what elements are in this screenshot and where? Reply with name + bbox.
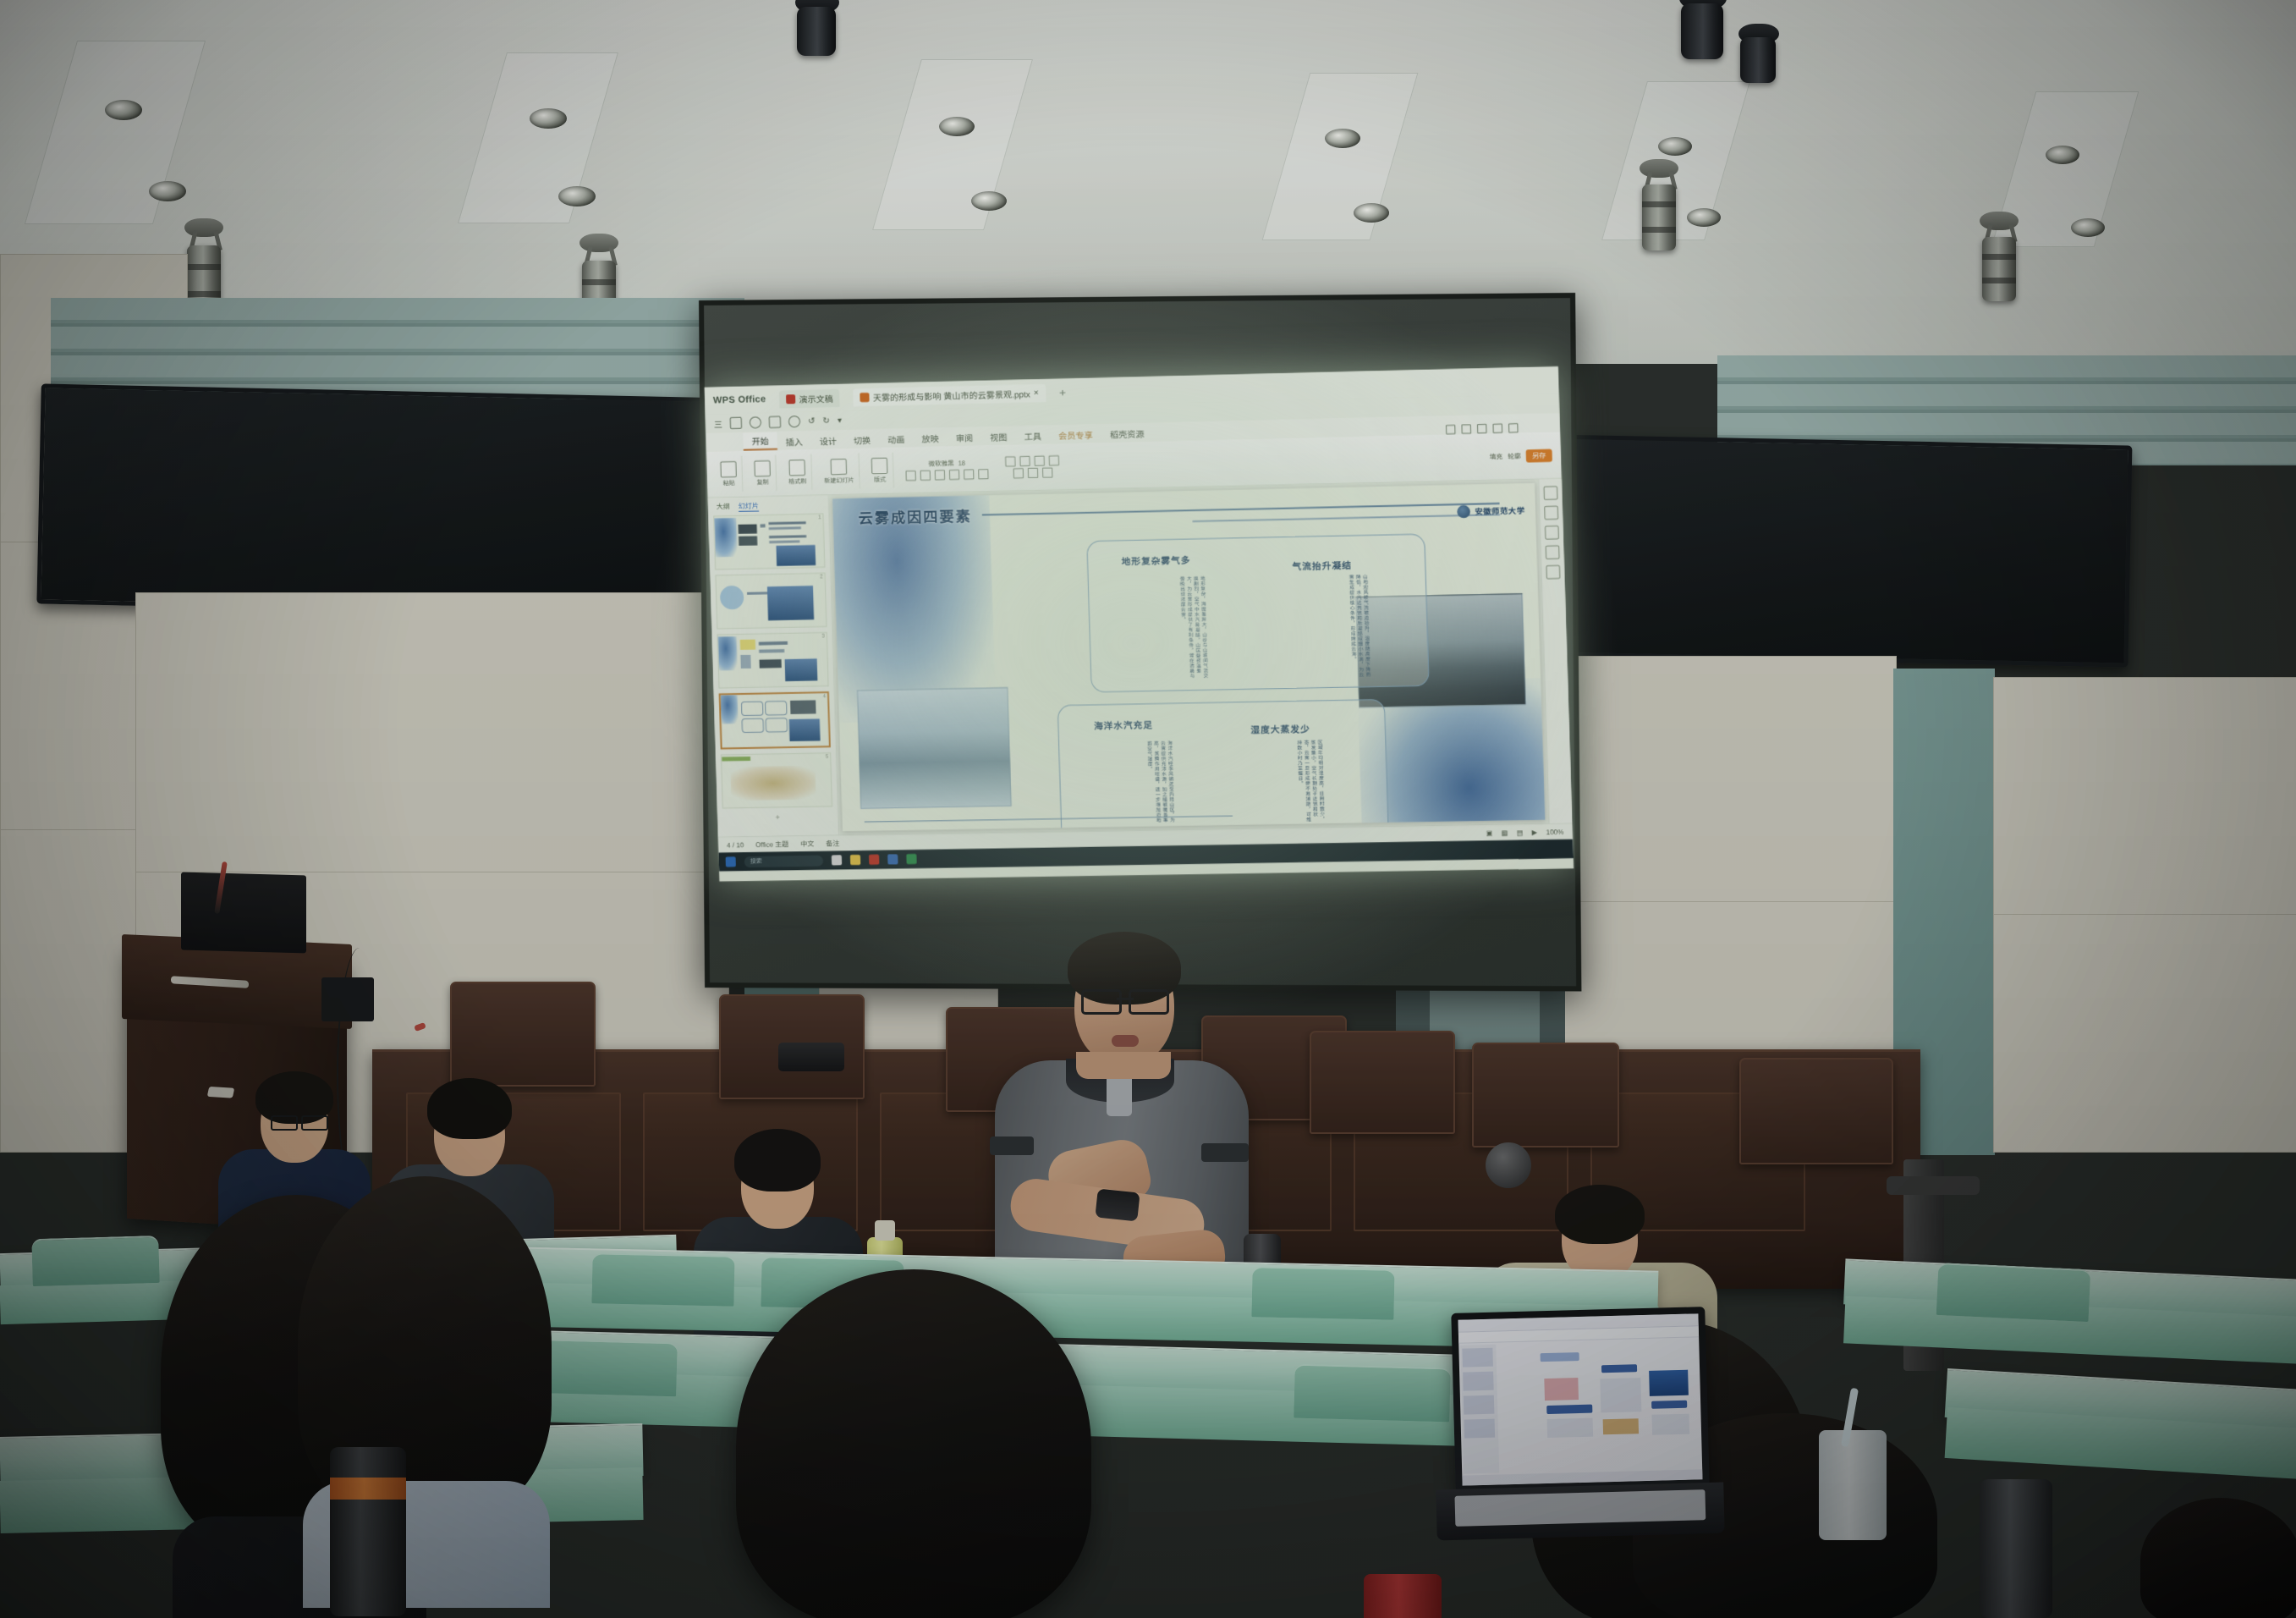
ceiling-downlight [2046, 146, 2079, 164]
explorer-icon[interactable] [832, 855, 842, 865]
foreground-audience-member [736, 1269, 1091, 1618]
ribbon-group-painter[interactable]: 格式刷 [783, 454, 812, 491]
thumb-index-2: 2 [820, 575, 823, 580]
ceiling-downlight [558, 186, 596, 206]
redo-icon[interactable] [788, 416, 800, 427]
bullet-list-icon[interactable] [1013, 468, 1024, 478]
foreground-hair [2140, 1498, 2296, 1618]
align-left-icon[interactable] [1005, 456, 1015, 466]
print-icon[interactable] [750, 416, 761, 428]
stage-chair[interactable] [1310, 1031, 1452, 1131]
save-as-button[interactable]: 另存 [1526, 449, 1552, 462]
ribbon-group-paste[interactable]: 粘贴 [715, 456, 743, 493]
ribbon-group-paragraph [1000, 449, 1065, 486]
presenter-sleeve-cuff [990, 1136, 1034, 1155]
ribbon-tab-5[interactable]: 放映 [913, 430, 948, 447]
student-laptop[interactable] [1451, 1307, 1709, 1493]
bottle-cap [875, 1220, 895, 1241]
thumb-index-5: 5 [826, 754, 829, 759]
lecture-hall-photo: WPS Office 演示文稿 天雾的形成与影响 黄山市的云雾景观.pptx ×… [0, 0, 2296, 1618]
slide-counter: 4 / 10 [727, 841, 744, 849]
card-4-body: 区域年均相对湿度高，日照时数少，蒸发量小，空气长期处于近饱和状态，云雾一旦形成便… [1230, 740, 1324, 823]
projected-wps-window: WPS Office 演示文稿 天雾的形成与影响 黄山市的云雾景观.pptx ×… [705, 366, 1574, 882]
highlight-icon[interactable] [978, 469, 988, 479]
thumbnail-slide-3[interactable]: 3 [717, 632, 829, 689]
window-controls [1446, 423, 1522, 434]
tab-presentation[interactable]: 演示文稿 [779, 388, 840, 408]
ribbon-tab-0[interactable]: 开始 [743, 432, 777, 451]
undo-icon[interactable] [769, 416, 781, 428]
drink-cup[interactable] [1819, 1430, 1887, 1540]
ceiling-downlight [105, 100, 142, 120]
thumbnail-tabs: 大纲 幻灯片 [713, 500, 824, 513]
slide-title-rule [982, 503, 1500, 515]
ribbon-label-4: 版式 [874, 475, 886, 483]
ribbon-group-font: 微软雅黑 18 [900, 450, 994, 488]
presenter-mouth [1112, 1035, 1139, 1047]
help-icon[interactable] [1461, 424, 1471, 433]
thumbnail-slide-2[interactable]: 2 [715, 573, 827, 630]
ceiling-downlight [530, 108, 567, 129]
audience-hair [734, 1129, 821, 1191]
ceiling-downlight [1687, 208, 1721, 227]
stage-chair[interactable] [450, 982, 592, 1083]
thumb-index-3: 3 [821, 634, 825, 639]
current-slide[interactable]: 云雾成因四要素 安徽师范大学 地形复杂雾气多 气流抬升凝结 地形复杂，海拔差异大… [832, 483, 1545, 832]
card-4-heading: 湿度大蒸发少 [1250, 723, 1310, 736]
close-icon[interactable] [1508, 423, 1519, 432]
slat-wall-left [51, 298, 744, 399]
ribbon-tab-2[interactable]: 设计 [810, 432, 845, 449]
ceiling-downlight [1658, 137, 1692, 156]
lectern-monitor[interactable] [181, 872, 306, 954]
add-slide-button[interactable]: + [722, 812, 833, 822]
align-row [1005, 455, 1059, 467]
ceiling-downlight [2071, 218, 2105, 237]
stage-chair[interactable] [1472, 1043, 1616, 1144]
ceiling-downlight [971, 191, 1007, 211]
thumbnail-slide-5[interactable]: 5 [721, 752, 832, 808]
blackboard-left [36, 383, 734, 618]
minimize-icon[interactable] [1477, 424, 1487, 433]
laptop-keyboard[interactable] [1436, 1483, 1724, 1541]
ribbon-tab-3[interactable]: 切换 [845, 432, 880, 449]
ribbon-tab-6[interactable]: 审阅 [947, 429, 981, 446]
design-ideas-icon[interactable] [1544, 486, 1558, 500]
shape-outline-label[interactable]: 轮廓 [1508, 451, 1521, 461]
stage-chair[interactable] [1739, 1058, 1890, 1161]
font-name-box[interactable]: 微软雅黑 [928, 458, 954, 468]
font-style-row [905, 469, 988, 481]
slide-thumbnail-pane[interactable]: 大纲 幻灯片 1 [708, 495, 839, 836]
ribbon-tab-1[interactable]: 插入 [777, 433, 811, 450]
ceiling-panel [1601, 81, 1750, 240]
ribbon-group-new-slide[interactable]: 新建幻灯片 [818, 453, 860, 489]
projector-unit [778, 1043, 844, 1071]
ribbon-label-2: 格式刷 [788, 476, 806, 485]
layout-icon[interactable] [871, 457, 888, 473]
chair-armrest [1887, 1176, 1980, 1195]
thumb-index-1: 1 [818, 515, 821, 520]
ceiling-panel [872, 59, 1033, 230]
slideshow-icon[interactable]: ▶ [1532, 828, 1538, 836]
ai-assistant-icon[interactable] [1546, 565, 1560, 580]
save-icon[interactable] [730, 417, 742, 429]
sorter-view-icon[interactable]: ▦ [1501, 828, 1508, 836]
search-icon[interactable] [1446, 425, 1456, 434]
card-2-heading: 气流抬升凝结 [1292, 559, 1352, 574]
photo-mountain-lake [857, 687, 1012, 809]
new-tab-button[interactable]: + [1059, 386, 1066, 399]
laptop-screen [1458, 1313, 1702, 1485]
presentation-icon [786, 394, 795, 404]
thumb-tab-slides[interactable]: 幻灯片 [739, 501, 759, 512]
ribbon-right-group: 填充 轮廓 另存 [1489, 449, 1552, 463]
presenter-sleeve-cuff [1201, 1143, 1249, 1162]
taskbar-search-label: 搜索 [750, 857, 762, 866]
wechat-icon[interactable] [906, 854, 916, 864]
presenter [971, 910, 1276, 1307]
audience-hair [1555, 1185, 1645, 1244]
ribbon-group-copy[interactable]: 复制 [749, 455, 777, 492]
seat[interactable] [1251, 1266, 1394, 1320]
theme-label[interactable]: Office 主题 [755, 839, 788, 850]
taskbar-search[interactable]: 搜索 [744, 855, 824, 867]
card-2-body: 山地迎风坡气流被迫抬升，温度随高度下降而降低，水汽达到饱和后凝结成细小水滴，为云… [1270, 575, 1370, 680]
reading-view-icon[interactable]: ▤ [1517, 828, 1524, 836]
foreground-hair [736, 1269, 1091, 1618]
notes-button[interactable]: 备注 [826, 839, 839, 848]
shape-fill-label[interactable]: 填充 [1489, 452, 1502, 462]
ceiling-downlight [1354, 203, 1389, 223]
wps-taskbar-icon[interactable] [869, 855, 879, 865]
card-3-body: 海洋水汽经季风输送至内陆山区，为云雾提供充沛水源，加之植被覆盖率高，蒸腾作用旺盛… [1080, 740, 1174, 824]
blackboard-right [1545, 434, 2133, 667]
university-logo-mark [1458, 505, 1471, 519]
redo-arrow-icon[interactable]: ↻ [822, 416, 830, 426]
university-logo-text: 安徽师范大学 [1475, 504, 1525, 516]
maximize-icon[interactable] [1492, 424, 1502, 433]
menu-label[interactable]: 三 [714, 417, 722, 430]
speaker-cone [1486, 1142, 1531, 1188]
presenter-neck [1076, 1052, 1171, 1079]
underline-icon[interactable] [935, 470, 945, 480]
status-right-group: ▣ ▦ ▤ ▶ 100% [1486, 828, 1563, 837]
whiteboard-tile [1993, 914, 2296, 1153]
whiteboard-tile [1557, 656, 1897, 903]
whiteboard-tile [1993, 677, 2296, 916]
tab-presentation-label: 演示文稿 [799, 391, 833, 404]
slide-title-rule2 [1193, 514, 1500, 521]
align-center-icon[interactable] [1019, 456, 1030, 466]
card-1-heading: 地形复杂雾气多 [1121, 554, 1190, 569]
ribbon-tab-8[interactable]: 工具 [1015, 427, 1050, 444]
slide-title: 云雾成因四要素 [858, 504, 972, 528]
seat[interactable] [31, 1236, 160, 1286]
file-icon [860, 392, 870, 401]
ribbon-label-0: 粘贴 [722, 478, 734, 487]
seat[interactable] [1294, 1364, 1451, 1423]
zoom-level[interactable]: 100% [1546, 828, 1563, 835]
thermos-black-foreground[interactable] [1980, 1479, 2052, 1618]
browser-icon[interactable] [887, 854, 898, 864]
ceiling-downlight [939, 117, 975, 136]
thermos-orange[interactable] [330, 1447, 406, 1616]
ribbon-tab-7[interactable]: 视图 [981, 428, 1016, 445]
foreground-audience-member [2140, 1498, 2296, 1618]
line-spacing-icon[interactable] [1041, 467, 1052, 477]
start-icon[interactable] [726, 856, 736, 867]
ceiling-downlight [149, 181, 186, 201]
number-list-icon[interactable] [1027, 468, 1038, 478]
university-logo: 安徽师范大学 [1458, 504, 1525, 518]
new-slide-icon[interactable] [830, 458, 847, 474]
font-size-box[interactable]: 18 [958, 459, 965, 466]
justify-icon[interactable] [1049, 455, 1060, 465]
wps-brand-label: WPS Office [713, 394, 766, 406]
tab-open-file[interactable]: 天雾的形成与影响 黄山市的云雾景观.pptx × [853, 383, 1046, 406]
projection-screen: WPS Office 演示文稿 天雾的形成与影响 黄山市的云雾景观.pptx ×… [699, 293, 1581, 992]
slide-editing-area[interactable]: 云雾成因四要素 安徽师范大学 地形复杂雾气多 气流抬升凝结 地形复杂，海拔差异大… [829, 480, 1549, 835]
lectern-side-monitor [321, 977, 374, 1021]
ceiling-downlight [1325, 129, 1360, 148]
smartwatch [1095, 1188, 1140, 1221]
thumb-index-4: 4 [823, 694, 827, 699]
italic-icon[interactable] [920, 470, 931, 480]
ribbon-group-layout[interactable]: 版式 [866, 453, 894, 489]
ribbon-label-1: 复制 [756, 478, 768, 487]
seat[interactable] [591, 1252, 734, 1307]
ribbon-tab-9[interactable]: 会员专享 [1050, 427, 1101, 444]
image-library-icon[interactable] [1544, 506, 1558, 520]
tab-file-label: 天雾的形成与影响 黄山市的云雾景观.pptx [873, 387, 1031, 404]
font-row: 微软雅黑 18 [928, 458, 965, 468]
thumb-tab-outline[interactable]: 大纲 [717, 502, 730, 512]
font-color-icon[interactable] [964, 469, 974, 479]
folder-icon[interactable] [850, 855, 860, 865]
ribbon-label-3: 新建幻灯片 [824, 476, 854, 485]
language-label[interactable]: 中文 [800, 839, 814, 848]
ribbon-tab-10[interactable]: 稻壳资源 [1101, 425, 1153, 443]
normal-view-icon[interactable]: ▣ [1486, 829, 1492, 837]
bold-icon[interactable] [905, 471, 915, 481]
align-right-icon[interactable] [1034, 455, 1045, 465]
thumbnail-slide-4[interactable]: 4 [719, 691, 831, 749]
card-1-body: 地形复杂，海拔差异大，山谷与山坡间气流交换剧烈，空气中水汽易凝结，山区昼夜温差大… [1108, 576, 1208, 680]
format-painter-icon[interactable] [788, 459, 805, 475]
red-cap-bottle[interactable] [1364, 1574, 1442, 1618]
animation-pane-icon[interactable] [1546, 545, 1560, 559]
audience-hair [427, 1078, 512, 1139]
list-row [1013, 467, 1052, 478]
presenter-glasses [1081, 989, 1169, 1010]
undo-arrow-icon[interactable]: ↺ [808, 416, 816, 426]
copy-icon[interactable] [754, 460, 771, 476]
qat-chevron-down-icon[interactable]: ▾ [838, 416, 842, 425]
ribbon-tab-4[interactable]: 动画 [879, 431, 914, 448]
tab-close-icon[interactable]: × [1034, 388, 1039, 398]
whiteboard-tile [135, 592, 729, 873]
seat[interactable] [1936, 1263, 2091, 1322]
thumbnail-slide-1[interactable]: 1 [713, 514, 825, 570]
strikethrough-icon[interactable] [949, 469, 959, 479]
ceiling-panel [1262, 73, 1419, 240]
chart-tool-icon[interactable] [1545, 526, 1559, 540]
card-3-heading: 海洋水汽充足 [1094, 718, 1154, 732]
glasses-icon [271, 1115, 328, 1127]
paste-icon[interactable] [720, 460, 737, 476]
wps-workspace: 大纲 幻灯片 1 [708, 479, 1573, 837]
